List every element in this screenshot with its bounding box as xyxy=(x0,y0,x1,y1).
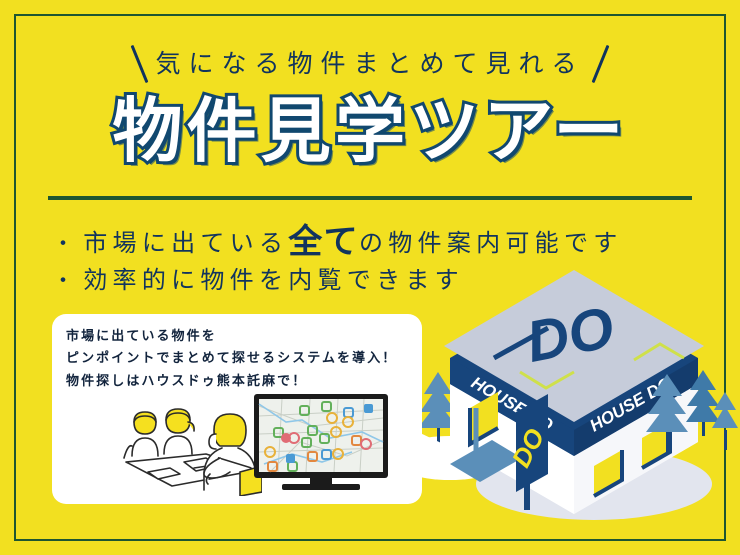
poster-root: 気になる物件まとめて見れる 物件見学ツアー ・ 市場に出ている 全て の物件案内… xyxy=(0,0,740,555)
left-slash-icon xyxy=(131,45,149,83)
bullet-dot-icon: ・ xyxy=(52,228,79,259)
title-divider xyxy=(48,196,692,200)
card-tail xyxy=(418,432,456,468)
bullet-text-post: の物件案内可能です xyxy=(359,227,623,261)
right-slash-icon xyxy=(591,45,609,83)
shop-illustration: DO HOUSE DO HOUSE DO DO xyxy=(398,262,740,535)
monitor-base xyxy=(282,484,360,490)
people-svg xyxy=(110,396,262,496)
list-item: ・ 市場に出ている 全て の物件案内可能です xyxy=(52,216,692,264)
page-title: 物件見学ツアー xyxy=(0,96,740,166)
bullet-dot-icon: ・ xyxy=(52,265,79,296)
bullet-text-emphasis: 全て xyxy=(288,218,359,266)
monitor-illustration xyxy=(252,392,390,497)
shop-svg: DO HOUSE DO HOUSE DO DO xyxy=(398,262,740,530)
monitor-svg xyxy=(252,392,390,492)
monitor-neck xyxy=(310,478,332,484)
info-card: 市場に出ている物件を ピンポイントでまとめて探せるシステムを導入！ 物件探しはハ… xyxy=(52,314,422,504)
kicker-line: 気になる物件まとめて見れる xyxy=(0,44,740,84)
card-text-block: 市場に出ている物件を ピンポイントでまとめて探せるシステムを導入！ 物件探しはハ… xyxy=(66,325,412,392)
card-line-2: ピンポイントでまとめて探せるシステムを導入！ xyxy=(66,347,412,369)
kicker-text: 気になる物件まとめて見れる xyxy=(155,52,584,77)
card-line-1: 市場に出ている物件を xyxy=(66,325,412,347)
bullet-text-pre: 市場に出ている xyxy=(83,227,288,261)
card-line-3: 物件探しはハウスドゥ熊本託麻で！ xyxy=(66,370,412,392)
consultation-illustration xyxy=(110,396,262,501)
